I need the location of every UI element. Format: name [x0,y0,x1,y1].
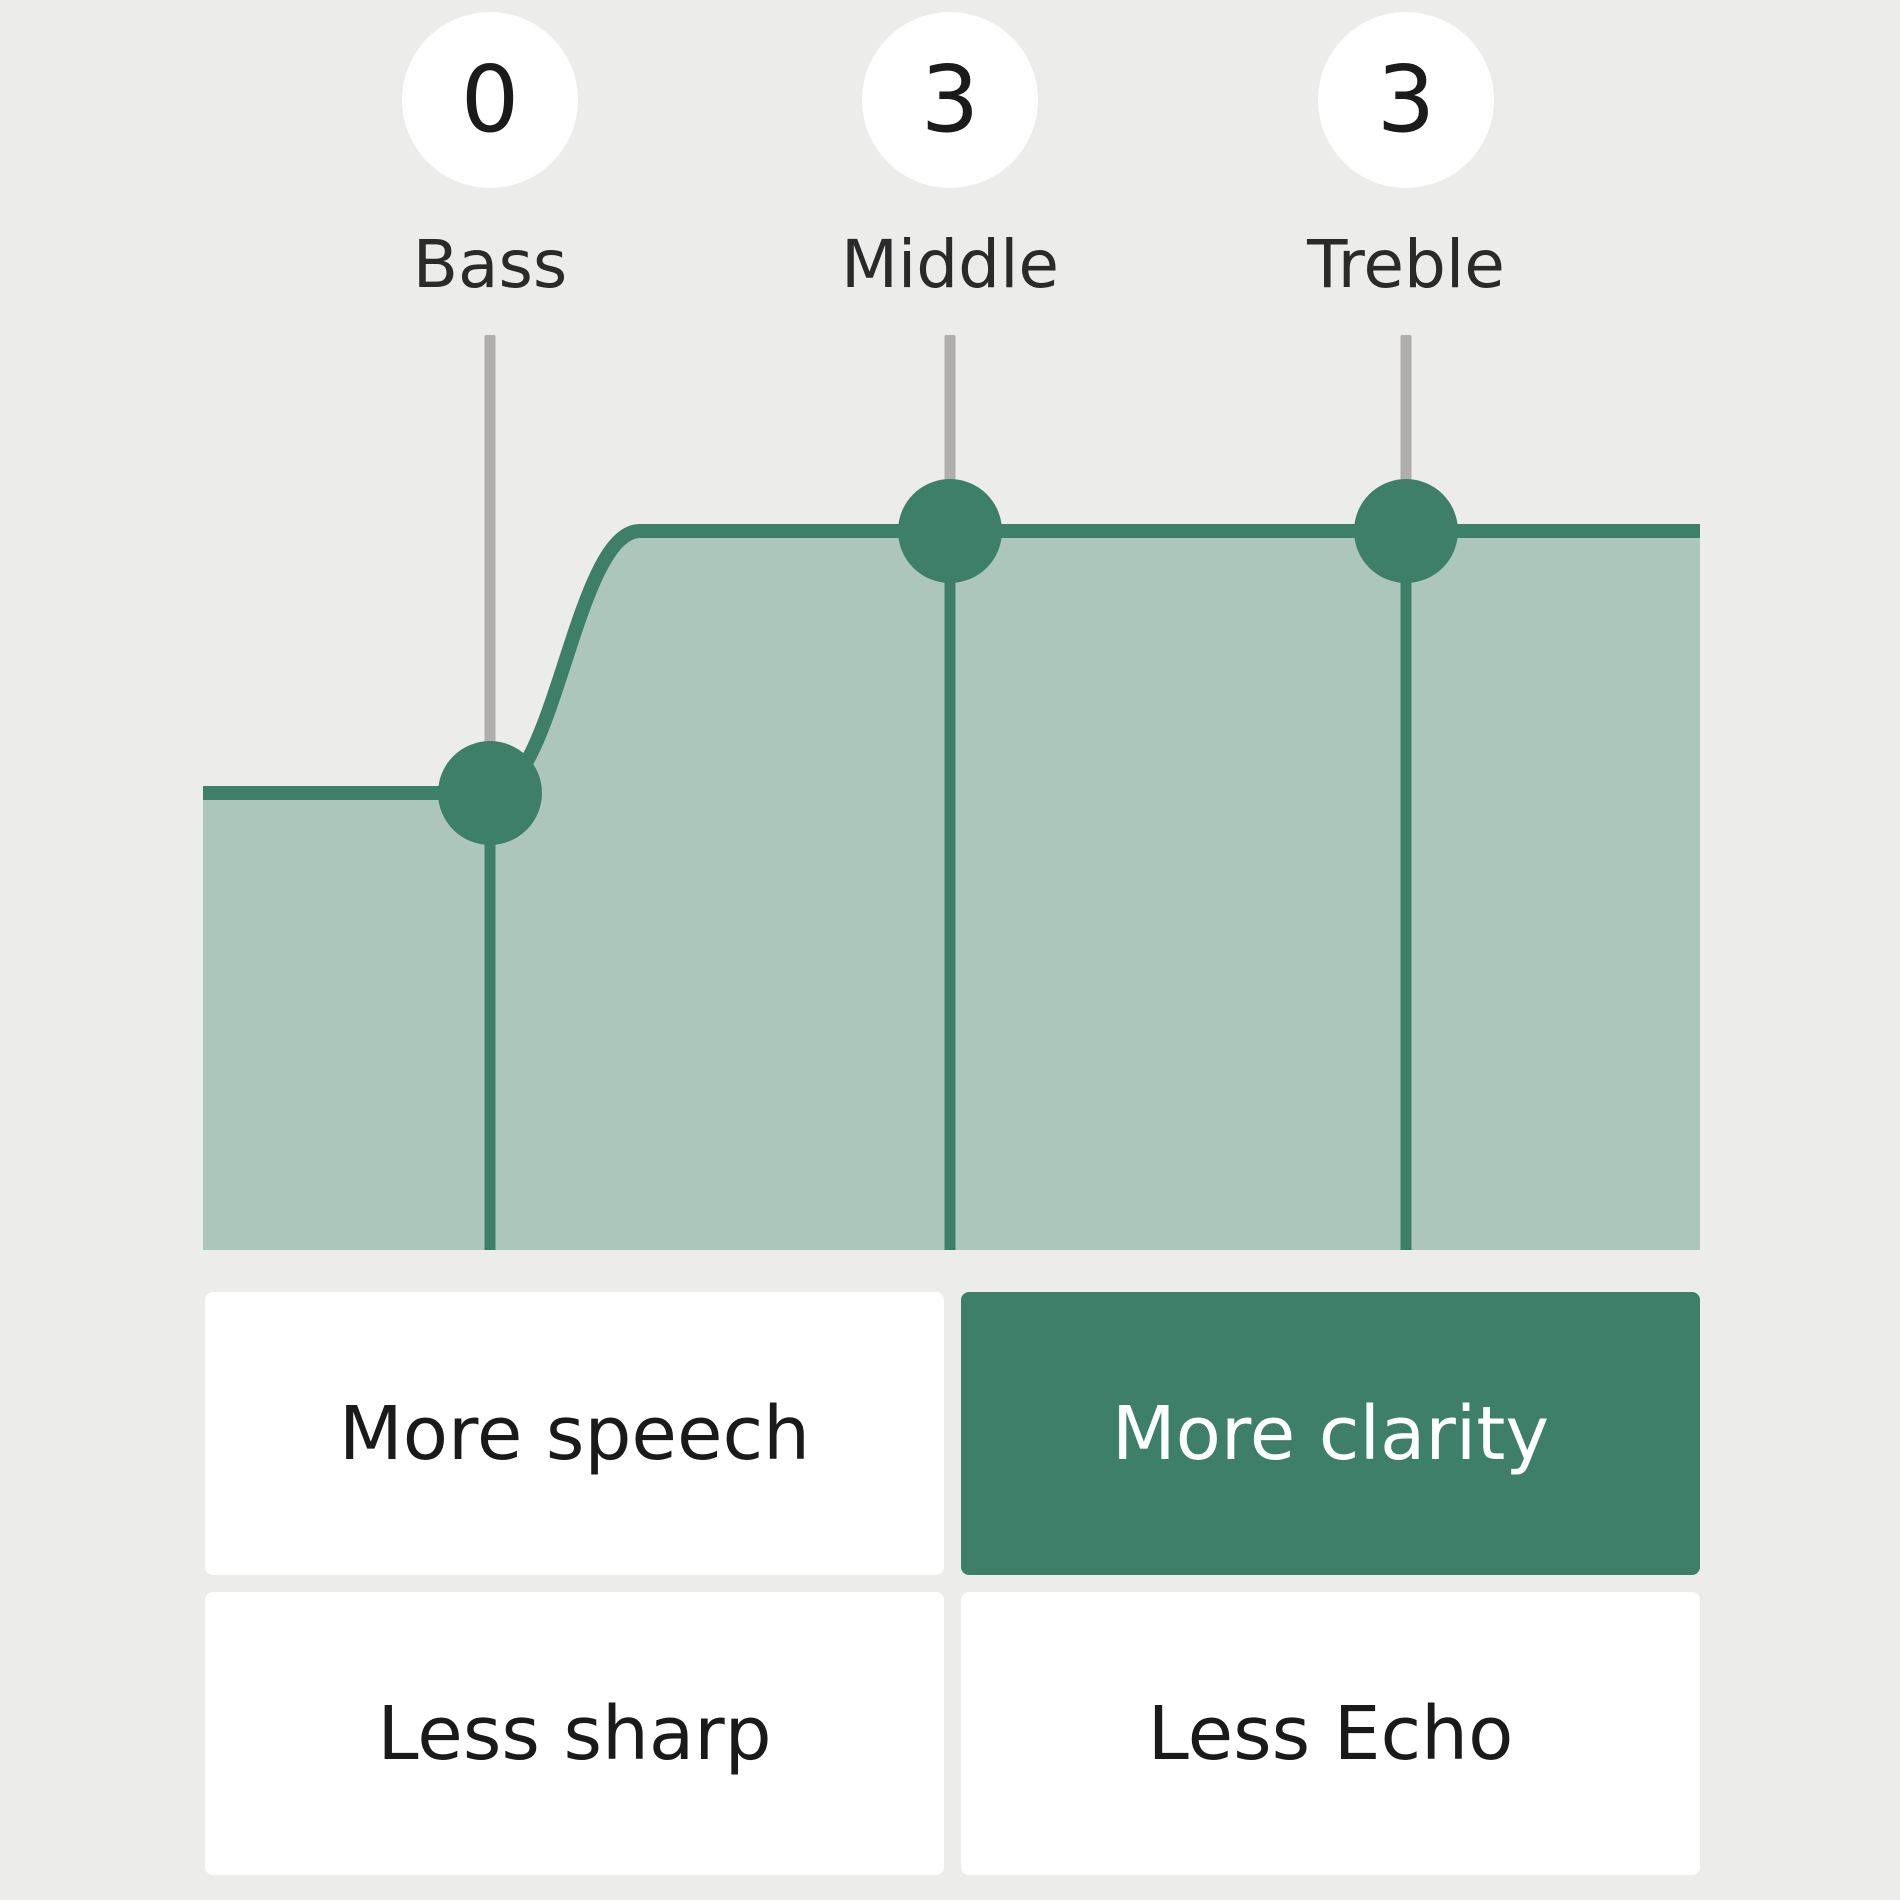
treble-value-bubble[interactable]: 3 [1318,12,1494,188]
middle-handle-stem [945,531,956,1250]
middle-value-bubble[interactable]: 3 [862,12,1038,188]
bass-label: Bass [413,232,568,298]
preset-button-grid: More speech More clarity Less sharp Less… [205,1292,1700,1875]
treble-value-text: 3 [1377,54,1436,146]
equalizer-screen: 0 3 3 Bass Middle Treble More speech Mor… [0,0,1900,1900]
treble-handle-stem [1401,531,1412,1250]
preset-button-more-clarity[interactable]: More clarity [961,1292,1700,1575]
bass-handle[interactable] [438,741,542,845]
preset-button-more-speech[interactable]: More speech [205,1292,944,1575]
middle-value-text: 3 [921,54,980,146]
bass-handle-stem [485,793,496,1250]
treble-handle[interactable] [1354,479,1458,583]
preset-button-less-echo[interactable]: Less Echo [961,1592,1700,1875]
middle-handle[interactable] [898,479,1002,583]
bass-value-bubble[interactable]: 0 [402,12,578,188]
treble-label: Treble [1307,232,1505,298]
middle-label: Middle [841,232,1059,298]
bass-value-text: 0 [461,54,520,146]
preset-button-less-sharp[interactable]: Less sharp [205,1592,944,1875]
eq-curve-graph[interactable] [203,470,1700,1250]
